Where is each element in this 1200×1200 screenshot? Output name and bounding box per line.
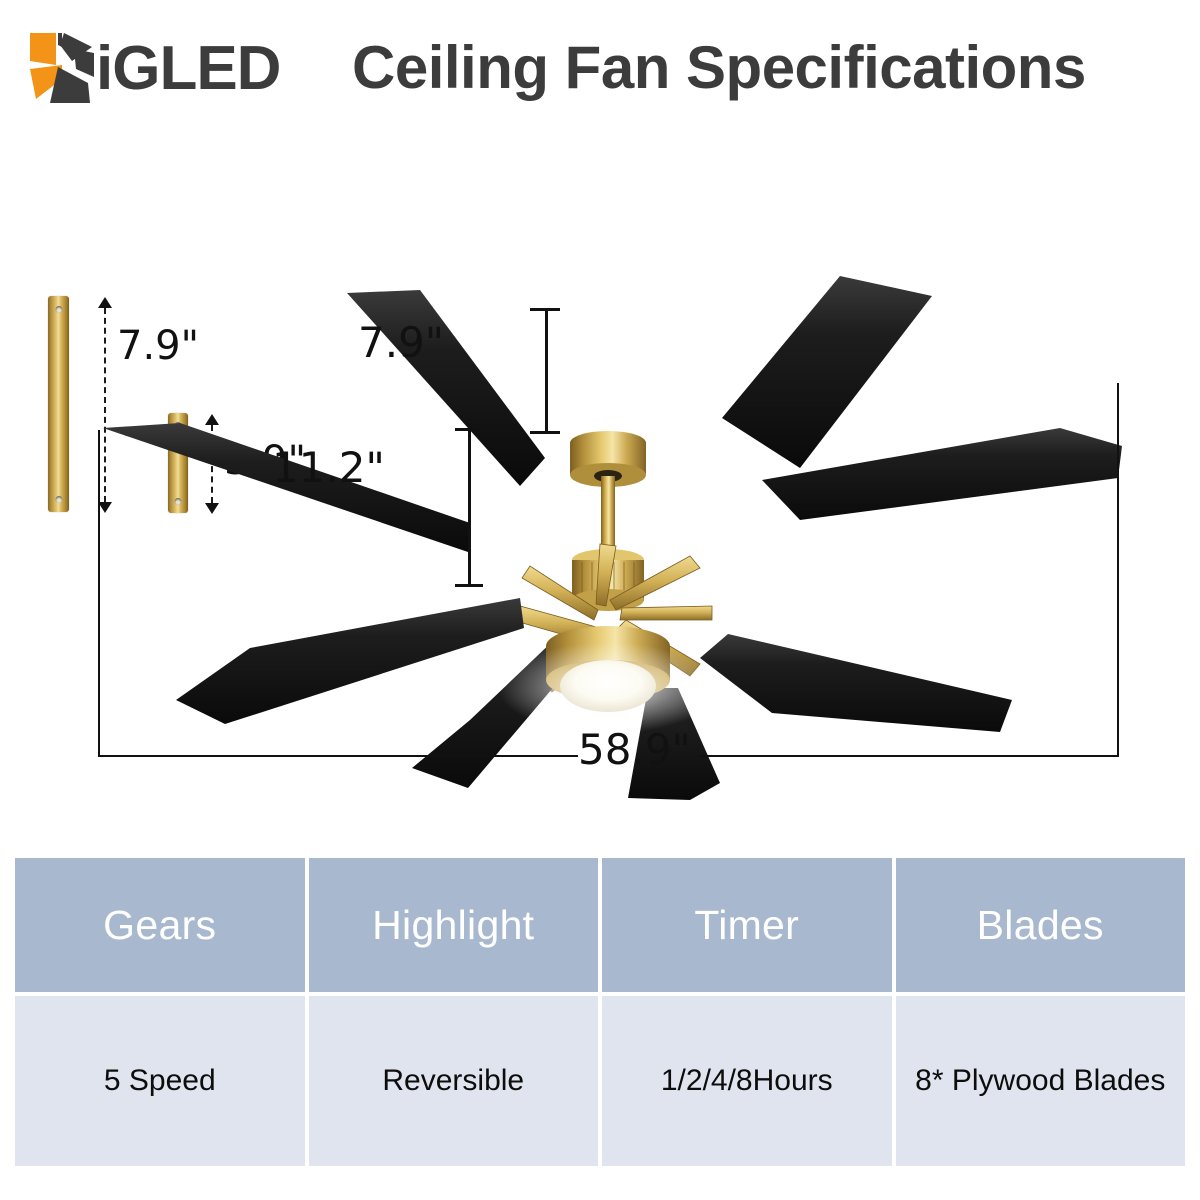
table-cell-gears: 5 Speed [15,996,305,1166]
fan-illustration [0,128,1200,828]
page-title: Ceiling Fan Specifications [352,34,1086,102]
page-header: iGLED Ceiling Fan Specifications [0,0,1200,130]
dim-label-blade-span: 58.9" [578,725,691,774]
width-line-left-segment [98,755,578,757]
aperture-shutter-logo-icon [28,31,96,105]
table-cell-highlight: Reversible [309,996,599,1166]
table-header-gears: Gears [15,858,305,992]
dim-label-overall-height: 11.2" [272,443,385,492]
table-cell-timer: 1/2/4/8Hours [602,996,892,1166]
table-header-timer: Timer [602,858,892,992]
dim-label-canopy-drop: 7.9" [358,318,444,367]
dim-cap-bottom-height [455,584,483,587]
dim-cap-bottom-canopy [530,431,560,434]
specifications-table: Gears Highlight Timer Blades 5 Speed Rev… [15,858,1185,1166]
ceiling-fan-dimension-diagram: 7.9" 3.9" [0,128,1200,828]
width-line-right-segment [700,755,1119,757]
dim-line-canopy-drop [545,308,548,433]
brand-name: iGLED [96,36,280,102]
ext-line-right [1117,383,1119,756]
ext-line-left [98,430,100,756]
dim-line-overall-height [468,428,471,586]
table-header-blades: Blades [896,858,1186,992]
product-spec-page: iGLED Ceiling Fan Specifications 7.9" 3.… [0,0,1200,1200]
table-header-highlight: Highlight [309,858,599,992]
table-cell-blades: 8* Plywood Blades [896,996,1186,1166]
